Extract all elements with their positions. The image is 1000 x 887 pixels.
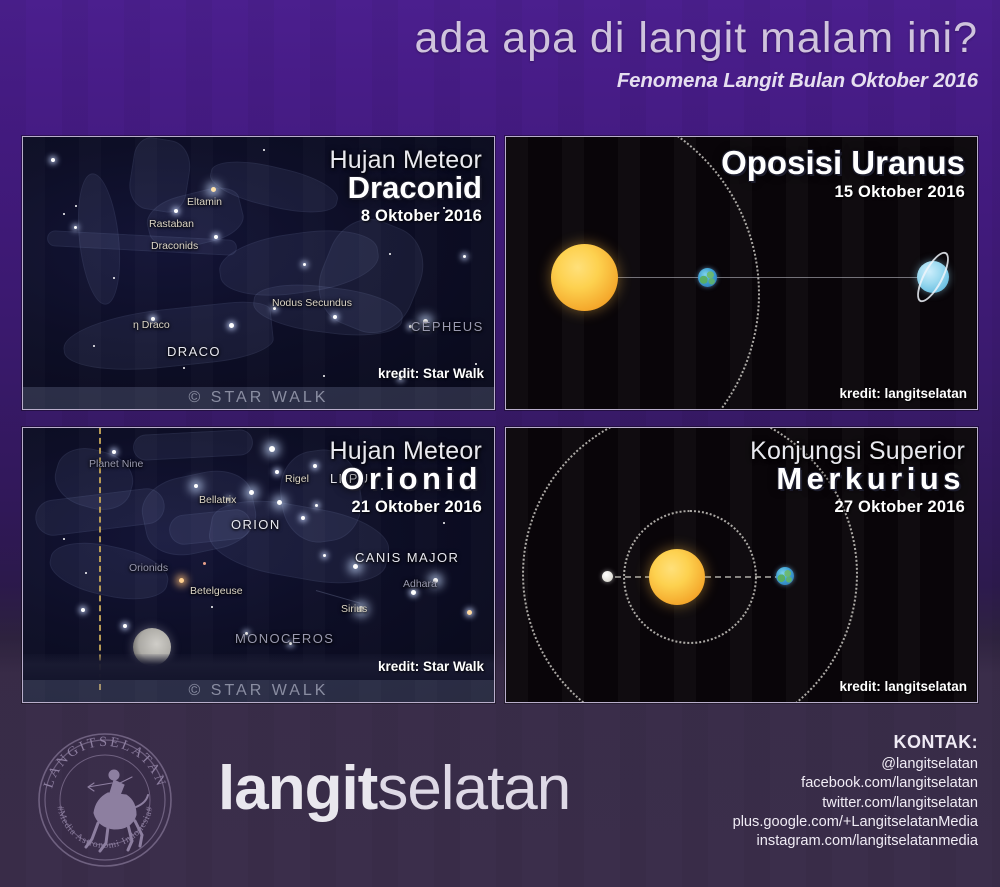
panel-name: Draconid <box>330 172 482 205</box>
contact-facebook[interactable]: facebook.com/langitselatan <box>733 774 978 793</box>
contact-block: KONTAK: @langitselatan facebook.com/lang… <box>733 732 978 851</box>
star <box>211 606 213 608</box>
sky-label-eta-draco: η Draco <box>133 319 170 331</box>
star <box>174 209 178 213</box>
page-subtitle: Fenomena Langit Bulan Oktober 2016 <box>0 69 978 93</box>
star <box>323 375 325 377</box>
star <box>333 315 337 319</box>
star <box>123 624 127 628</box>
star-rigel <box>275 470 279 474</box>
panel-name: Oposisi Uranus <box>721 146 965 181</box>
star <box>229 323 234 328</box>
star <box>214 235 218 239</box>
star <box>323 554 326 557</box>
panel-credit: kredit: Star Walk <box>378 659 484 674</box>
panel-date: 21 Oktober 2016 <box>330 498 482 517</box>
star-betelgeuse <box>179 578 184 583</box>
panel-oposisi-uranus[interactable]: Oposisi Uranus 15 Oktober 2016 kredit: l… <box>505 136 978 410</box>
sky-label-orionids: Orionids <box>129 562 168 574</box>
star <box>277 500 282 505</box>
sky-label-rigel: Rigel <box>285 473 309 485</box>
sun-icon <box>551 244 618 311</box>
star <box>63 538 65 540</box>
star <box>467 610 472 615</box>
opposition-sightline <box>594 277 932 278</box>
poster-header: ada apa di langit malam ini? Fenomena La… <box>0 16 978 93</box>
earth-icon <box>698 268 717 287</box>
star <box>203 562 206 565</box>
panel-credit: kredit: langitselatan <box>839 679 967 694</box>
sky-label-betelgeuse: Betelgeuse <box>190 585 243 597</box>
star <box>389 253 391 255</box>
contact-googleplus[interactable]: plus.google.com/+LangitselatanMedia <box>733 813 978 832</box>
star <box>74 226 77 229</box>
star <box>85 572 87 574</box>
logo-ring-top-text: LANGITSELATAN <box>41 735 168 790</box>
star <box>315 504 318 507</box>
panel-draconid[interactable]: Eltamin Rastaban Draconids Nodus Secundu… <box>22 136 495 410</box>
contact-twitter[interactable]: twitter.com/langitselatan <box>733 794 978 813</box>
sun-icon <box>649 549 705 605</box>
panel-heading-merkurius: Konjungsi Superior Merkurius 27 Oktober … <box>750 438 965 517</box>
sky-label-orion: ORION <box>231 517 281 532</box>
panel-heading-orionid: Hujan Meteor Orionid 21 Oktober 2016 <box>330 438 482 517</box>
earth-icon <box>776 567 794 585</box>
sky-label-cepheus: CEPHEUS <box>411 319 484 334</box>
star <box>475 363 477 365</box>
sky-label-canis-major: CANIS MAJOR <box>355 550 459 565</box>
sky-label-sirius: Sirius <box>341 603 367 615</box>
star <box>63 213 65 215</box>
mercury-icon <box>602 571 613 582</box>
wordmark-bold: langit <box>218 754 377 823</box>
star <box>75 205 77 207</box>
starwalk-watermark: © STAR WALK <box>23 387 494 409</box>
brand-wordmark: langitselatan <box>218 758 570 820</box>
star-planet-nine <box>112 450 116 454</box>
star <box>443 522 445 524</box>
contact-handle[interactable]: @langitselatan <box>733 755 978 774</box>
sky-label-planet-nine: Planet Nine <box>89 458 143 470</box>
panel-name: Orionid <box>330 463 482 496</box>
star <box>183 367 185 369</box>
star-bellatrix <box>194 484 198 488</box>
panel-date: 27 Oktober 2016 <box>750 498 965 517</box>
sky-label-draconids: Draconids <box>151 240 198 252</box>
wordmark-light: selatan <box>377 754 570 823</box>
star <box>303 263 306 266</box>
star <box>269 446 275 452</box>
star <box>93 345 95 347</box>
sky-label-draco: DRACO <box>167 344 221 359</box>
poster-footer: LANGITSELATAN #Media Astronomi Indonesia… <box>0 712 1000 887</box>
svg-text:LANGITSELATAN: LANGITSELATAN <box>41 735 168 790</box>
star <box>81 608 85 612</box>
panel-orionid[interactable]: Planet Nine Rigel Bellatrix LEPUS ORION … <box>22 427 495 703</box>
star <box>51 158 55 162</box>
star <box>249 490 254 495</box>
panel-credit: kredit: langitselatan <box>839 386 967 401</box>
sky-label-eltamin: Eltamin <box>187 196 222 208</box>
star-eltamin <box>211 187 216 192</box>
starwalk-watermark: © STAR WALK <box>23 680 494 702</box>
sky-label-monoceros: MONOCEROS <box>235 631 334 646</box>
langitselatan-logo: LANGITSELATAN #Media Astronomi Indonesia… <box>36 731 174 869</box>
sky-label-adhara: Adhara <box>403 578 437 590</box>
infographic-poster: ada apa di langit malam ini? Fenomena La… <box>0 0 1000 887</box>
page-title: ada apa di langit malam ini? <box>0 16 978 61</box>
starwalk-watermark-text: © STAR WALK <box>189 682 329 700</box>
panel-konjungsi-merkurius[interactable]: Konjungsi Superior Merkurius 27 Oktober … <box>505 427 978 703</box>
panel-heading-uranus: Oposisi Uranus 15 Oktober 2016 <box>721 147 965 202</box>
star <box>313 464 317 468</box>
panel-date: 15 Oktober 2016 <box>721 183 965 202</box>
panel-date: 8 Oktober 2016 <box>330 207 482 226</box>
panel-heading-draconid: Hujan Meteor Draconid 8 Oktober 2016 <box>330 147 482 226</box>
panel-credit: kredit: Star Walk <box>378 366 484 381</box>
star <box>113 277 115 279</box>
panel-grid: Eltamin Rastaban Draconids Nodus Secundu… <box>22 136 978 703</box>
starwalk-watermark-text: © STAR WALK <box>189 389 329 407</box>
sky-label-bellatrix: Bellatrix <box>199 494 236 506</box>
star <box>463 255 466 258</box>
sky-label-rastaban: Rastaban <box>149 218 194 230</box>
contact-heading: KONTAK: <box>733 732 978 753</box>
panel-name: Merkurius <box>750 463 965 496</box>
star-adhara <box>411 590 416 595</box>
star <box>263 149 265 151</box>
centaur-icon <box>86 770 148 851</box>
contact-instagram[interactable]: instagram.com/langitselatanmedia <box>733 832 978 851</box>
star <box>301 516 305 520</box>
sky-label-nodus-secundus: Nodus Secundus <box>272 297 352 309</box>
